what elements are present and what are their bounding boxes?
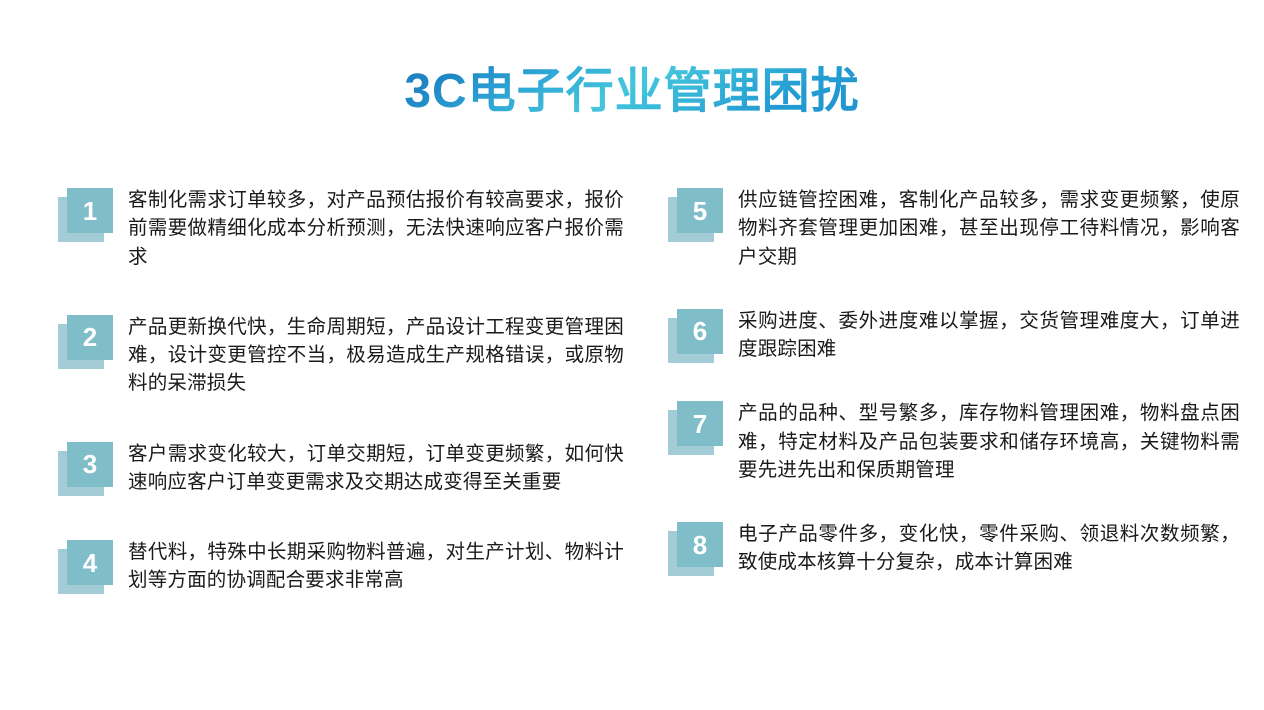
page-title: 3C电子行业管理困扰 xyxy=(404,62,859,122)
left-item-list: 1 客制化需求订单较多，对产品预估报价有较高要求，报价前需要做精细化成本分析预测… xyxy=(58,186,624,595)
badge-number: 3 xyxy=(83,451,97,477)
list-item-text: 客制化需求订单较多，对产品预估报价有较高要求，报价前需要做精细化成本分析预测，无… xyxy=(128,186,624,271)
badge-number: 6 xyxy=(693,318,707,344)
slide-canvas: 3C电子行业管理困扰 1 客制化需求订单较多，对产品预估报价有较高要求，报价前需… xyxy=(0,0,1264,710)
number-badge: 6 xyxy=(668,309,724,363)
right-column: 5 供应链管控困难，客制化产品较多，需求变更频繁，使原物料齐套管理更加困难，甚至… xyxy=(632,186,1264,686)
right-item-list: 5 供应链管控困难，客制化产品较多，需求变更频繁，使原物料齐套管理更加困难，甚至… xyxy=(668,186,1240,577)
left-column: 1 客制化需求订单较多，对产品预估报价有较高要求，报价前需要做精细化成本分析预测… xyxy=(0,186,632,686)
number-badge: 2 xyxy=(58,315,114,369)
badge-front-square: 1 xyxy=(67,188,113,233)
badge-number: 5 xyxy=(693,198,707,224)
number-badge: 1 xyxy=(58,188,114,242)
list-item: 2 产品更新换代快，生命周期短，产品设计工程变更管理困难，设计变更管控不当，极易… xyxy=(58,313,624,398)
list-item-text: 产品的品种、型号繁多，库存物料管理困难，物料盘点困难，特定材料及产品包装要求和储… xyxy=(738,399,1240,484)
badge-front-square: 2 xyxy=(67,315,113,360)
number-badge: 5 xyxy=(668,188,724,242)
list-item: 4 替代料，特殊中长期采购物料普遍，对生产计划、物料计划等方面的协调配合要求非常… xyxy=(58,538,624,595)
list-item: 8 电子产品零件多，变化快，零件采购、领退料次数频繁，致使成本核算十分复杂，成本… xyxy=(668,520,1240,577)
number-badge: 7 xyxy=(668,401,724,455)
badge-number: 2 xyxy=(83,324,97,350)
list-item-text: 产品更新换代快，生命周期短，产品设计工程变更管理困难，设计变更管控不当，极易造成… xyxy=(128,313,624,398)
number-badge: 8 xyxy=(668,522,724,576)
list-item-text: 供应链管控困难，客制化产品较多，需求变更频繁，使原物料齐套管理更加困难，甚至出现… xyxy=(738,186,1240,271)
list-item: 5 供应链管控困难，客制化产品较多，需求变更频繁，使原物料齐套管理更加困难，甚至… xyxy=(668,186,1240,271)
number-badge: 4 xyxy=(58,540,114,594)
list-item-text: 采购进度、委外进度难以掌握，交货管理难度大，订单进度跟踪困难 xyxy=(738,307,1240,364)
badge-number: 8 xyxy=(693,532,707,558)
badge-front-square: 5 xyxy=(677,188,723,233)
list-item: 6 采购进度、委外进度难以掌握，交货管理难度大，订单进度跟踪困难 xyxy=(668,307,1240,364)
badge-front-square: 6 xyxy=(677,309,723,354)
list-item: 1 客制化需求订单较多，对产品预估报价有较高要求，报价前需要做精细化成本分析预测… xyxy=(58,186,624,271)
badge-front-square: 7 xyxy=(677,401,723,446)
badge-front-square: 4 xyxy=(67,540,113,585)
badge-number: 1 xyxy=(83,198,97,224)
slide-title-container: 3C电子行业管理困扰 xyxy=(0,30,1264,154)
list-item-text: 电子产品零件多，变化快，零件采购、领退料次数频繁，致使成本核算十分复杂，成本计算… xyxy=(738,520,1240,577)
badge-front-square: 8 xyxy=(677,522,723,567)
list-item: 3 客户需求变化较大，订单交期短，订单变更频繁，如何快速响应客户订单变更需求及交… xyxy=(58,440,624,497)
content-columns: 1 客制化需求订单较多，对产品预估报价有较高要求，报价前需要做精细化成本分析预测… xyxy=(0,186,1264,686)
badge-number: 4 xyxy=(83,550,97,576)
list-item-text: 替代料，特殊中长期采购物料普遍，对生产计划、物料计划等方面的协调配合要求非常高 xyxy=(128,538,624,595)
number-badge: 3 xyxy=(58,442,114,496)
list-item: 7 产品的品种、型号繁多，库存物料管理困难，物料盘点困难，特定材料及产品包装要求… xyxy=(668,399,1240,484)
badge-front-square: 3 xyxy=(67,442,113,487)
badge-number: 7 xyxy=(693,411,707,437)
list-item-text: 客户需求变化较大，订单交期短，订单变更频繁，如何快速响应客户订单变更需求及交期达… xyxy=(128,440,624,497)
